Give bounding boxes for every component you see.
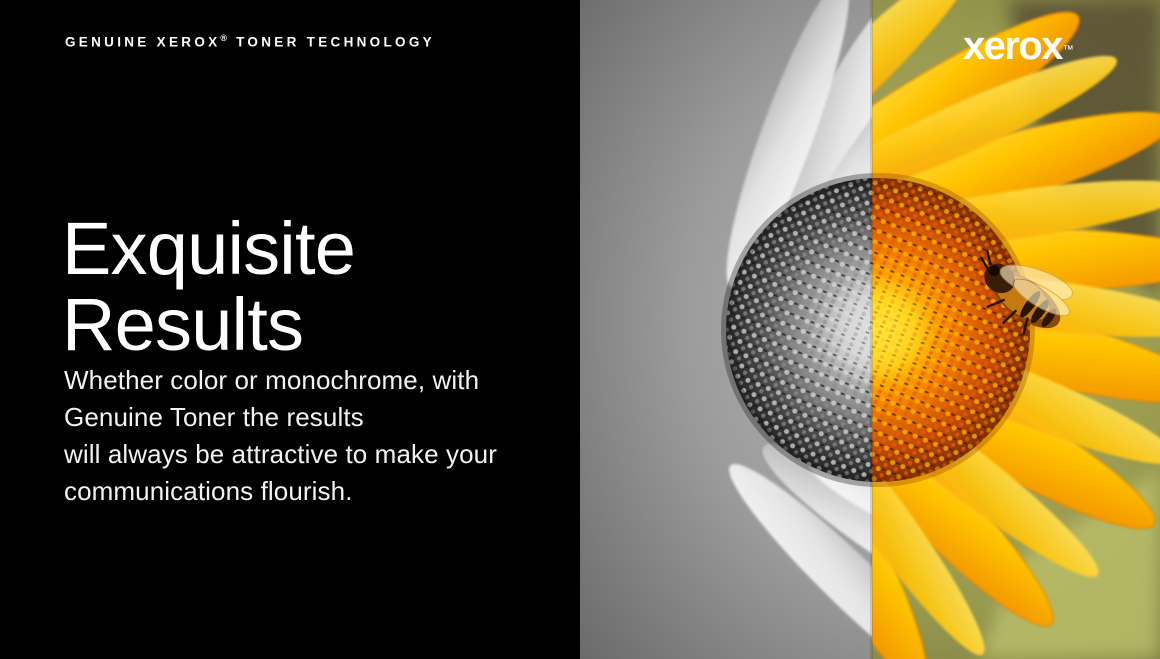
body-copy: Whether color or monochrome, with Genuin… xyxy=(64,362,497,510)
page-title: Exquisite Results xyxy=(62,211,355,363)
trademark-symbol: ™ xyxy=(1063,45,1074,56)
registered-trademark-icon: ® xyxy=(220,33,229,43)
body-copy-line-2: Genuine Toner the results xyxy=(64,399,497,436)
xerox-toner-banner: xerox™ GENUINE XEROX® TONER TECHNOLOGY E… xyxy=(0,0,1160,659)
sunflower-photo xyxy=(578,0,1160,659)
body-copy-line-1: Whether color or monochrome, with xyxy=(64,362,497,399)
body-copy-line-4: communications flourish. xyxy=(64,473,497,510)
headline-line-1: Exquisite xyxy=(62,211,355,287)
eyebrow-text-before: GENUINE XEROX xyxy=(65,35,220,50)
xerox-logo: xerox™ xyxy=(963,26,1074,66)
body-copy-line-3: will always be attractive to make your xyxy=(64,436,497,473)
xerox-wordmark: xerox xyxy=(963,26,1062,66)
eyebrow-kicker: GENUINE XEROX® TONER TECHNOLOGY xyxy=(65,34,435,49)
left-text-panel: GENUINE XEROX® TONER TECHNOLOGY Exquisit… xyxy=(0,0,580,659)
headline-line-2: Results xyxy=(62,287,355,363)
eyebrow-text-after: TONER TECHNOLOGY xyxy=(229,35,435,50)
